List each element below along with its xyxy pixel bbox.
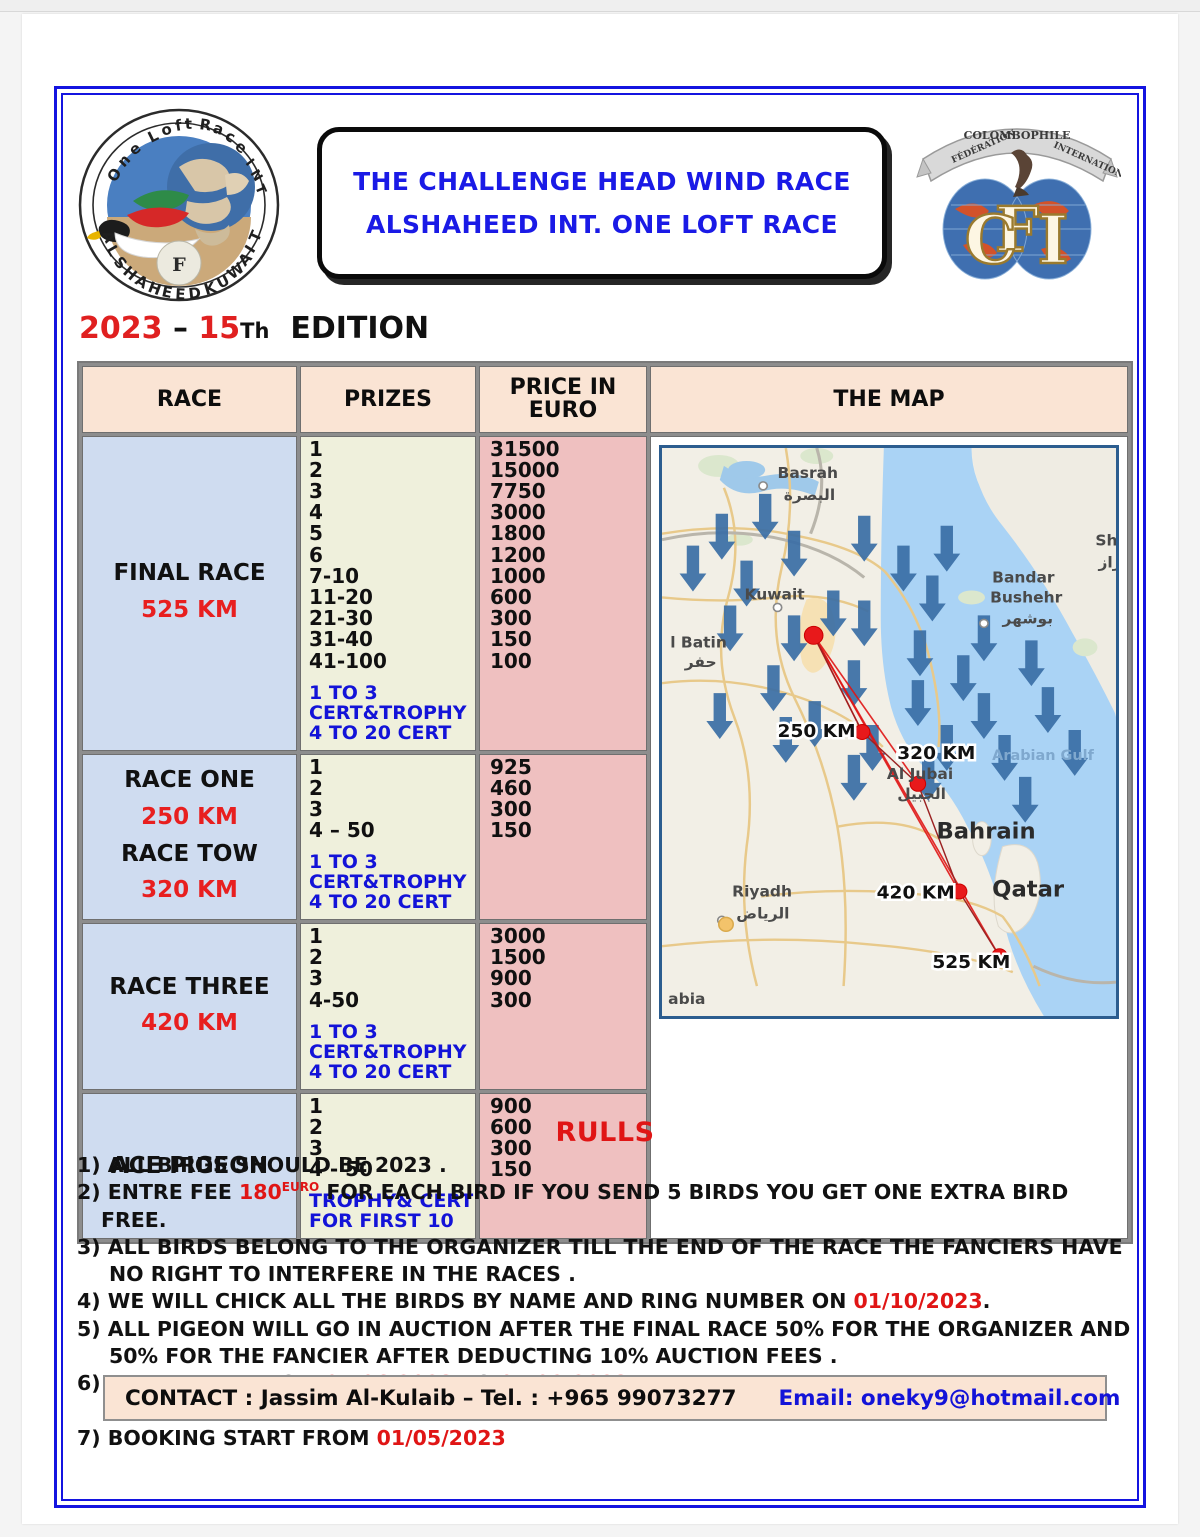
race-distance: 320 KM [87, 871, 292, 910]
prize-value: 1200 [490, 545, 646, 566]
svg-text:Riyadh: Riyadh [732, 882, 792, 900]
poster-blue-frame: F O n e L o f t R a c [54, 86, 1146, 1508]
svg-text:بوشهر: بوشهر [1001, 609, 1053, 627]
rule-highlight: 01/10/2023 [854, 1289, 983, 1313]
svg-text:الجبيل: الجبيل [897, 785, 946, 803]
column-header-prizes: PRIZES [300, 366, 476, 433]
prize-rank: 2 [309, 778, 475, 799]
svg-text:I: I [1038, 201, 1069, 279]
prize-value: 460 [490, 778, 646, 799]
viewer-top-strip [0, 0, 1200, 12]
rule-number: 5) [77, 1317, 108, 1341]
prize-value: 900 [490, 968, 646, 989]
prize-value: 7750 [490, 481, 646, 502]
rule-highlight: 01/05/2023 [377, 1426, 506, 1450]
column-header-map: THE MAP [650, 366, 1128, 433]
svg-text:250 KM: 250 KM [778, 721, 856, 742]
prize-rank: 2 [309, 947, 475, 968]
rule-item: 5) ALL PIGEON WILL GO IN AUCTION AFTER T… [77, 1316, 1133, 1371]
prize-note-line: 4 TO 20 CERT [309, 893, 475, 913]
prize-value: 15000 [490, 460, 646, 481]
svg-text:C: C [965, 201, 1018, 279]
rule-number: 7) [77, 1426, 108, 1450]
rule-item: 2) ENTRE FEE 180EURO FOR EACH BIRD IF YO… [77, 1179, 1133, 1234]
race-name: RACE ONE [87, 763, 292, 798]
prize-note-line: 1 TO 3 [309, 684, 475, 704]
svg-text:420 KM: 420 KM [877, 882, 955, 903]
rule-text: ALL BIRDS SHOULD BE 2023 . [108, 1153, 447, 1177]
svg-text:Bahrain: Bahrain [936, 819, 1035, 845]
prize-rank: 2 [309, 460, 475, 481]
svg-text:حفر: حفر [684, 653, 717, 671]
prize-value: 31500 [490, 439, 646, 460]
prize-value: 150 [490, 820, 646, 841]
race-cell: RACE THREE420 KM [82, 923, 297, 1090]
race-cell: FINAL RACE525 KM [82, 436, 297, 751]
rule-text: ALL BIRDS BELONG TO THE ORGANIZER TILL T… [108, 1235, 1123, 1259]
prize-value-list: 3150015000775030001800120010006003001501… [490, 439, 646, 672]
race-distance: 420 KM [87, 1004, 292, 1043]
club-logo-icon: F O n e L o f t R a c [75, 105, 283, 305]
prizes-cell: 1234567-1011-2021-3031-4041-1001 TO 3CER… [300, 436, 476, 751]
rule-text: WE WILL CHICK ALL THE BIRDS BY NAME AND … [108, 1289, 854, 1313]
race-cell: RACE ONE250 KMRACE TOW320 KM [82, 754, 297, 921]
prize-value: 300 [490, 990, 646, 1011]
svg-text:Bandar: Bandar [992, 568, 1055, 586]
prize-note: 1 TO 3CERT&TROPHY4 TO 20 CERT [309, 1023, 475, 1083]
column-header-price: PRICE IN EURO [479, 366, 647, 433]
poster-title-line-2: ALSHAHEED INT. ONE LOFT RACE [366, 210, 838, 239]
prize-value-list: 30001500900300 [490, 926, 646, 1011]
price-cell: 925460300150 [479, 754, 647, 921]
edition-line: 2023 – 15Th EDITION [79, 311, 429, 346]
price-cell: 30001500900300 [479, 923, 647, 1090]
prize-rank: 4 – 50 [309, 820, 475, 841]
poster-header: F O n e L o f t R a c [69, 99, 1131, 319]
prize-rank: 31-40 [309, 629, 475, 650]
prize-value: 900 [490, 1096, 646, 1117]
rule-number: 3) [77, 1235, 108, 1259]
svg-text:البصرة: البصرة [784, 486, 835, 504]
prize-rank-list: 1234 – 50 [309, 757, 475, 842]
svg-text:Basrah: Basrah [778, 464, 839, 482]
svg-text:الرياض: الرياض [736, 904, 789, 922]
svg-text:F: F [172, 254, 186, 276]
prize-rank: 41-100 [309, 651, 475, 672]
table-header-row: RACE PRIZES PRICE IN EURO THE MAP [82, 366, 1128, 433]
prize-rank-list: 1234-50 [309, 926, 475, 1011]
prize-note-line: 4 TO 20 CERT [309, 724, 475, 744]
prize-value: 1500 [490, 947, 646, 968]
rule-number: 2) [77, 1180, 108, 1204]
edition-number: 15 [198, 311, 240, 346]
prize-value-list: 925460300150 [490, 757, 646, 842]
poster-page: F O n e L o f t R a c [22, 14, 1178, 1524]
race-prize-table: RACE PRIZES PRICE IN EURO THE MAP FINAL … [77, 361, 1133, 1244]
prize-note-line: CERT&TROPHY [309, 873, 475, 893]
rule-text: ALL PIGEON WILL GO IN AUCTION AFTER THE … [108, 1317, 1131, 1341]
svg-text:Shira: Shira [1095, 532, 1116, 550]
contact-text: CONTACT : Jassim Al-Kulaib – Tel. : +965… [125, 1386, 737, 1411]
race-name: RACE THREE [87, 970, 292, 1005]
svg-text:abia: abia [668, 990, 705, 1008]
rule-highlight: 180 [239, 1180, 282, 1204]
svg-text:l Batin: l Batin [670, 633, 727, 651]
poster-content: F O n e L o f t R a c [69, 99, 1131, 1497]
prize-rank: 3 [309, 799, 475, 820]
prizes-cell: 1234-501 TO 3CERT&TROPHY4 TO 20 CERT [300, 923, 476, 1090]
race-route-map: BasrahالبصرةShiraشيرازBandarBushehrبوشهر… [659, 445, 1119, 1019]
rule-currency: EURO [282, 1180, 319, 1194]
svg-text:Kuwait: Kuwait [745, 585, 805, 603]
prize-value: 300 [490, 799, 646, 820]
prize-value: 925 [490, 757, 646, 778]
race-distance: 525 KM [87, 591, 292, 630]
rule-item: 3) ALL BIRDS BELONG TO THE ORGANIZER TIL… [77, 1234, 1133, 1289]
rule-continuation: NO RIGHT TO INTERFERE IN THE RACES . [101, 1261, 1133, 1288]
rule-text: . [983, 1289, 991, 1313]
prize-note-line: 4 TO 20 CERT [309, 1063, 475, 1083]
rule-item: 4) WE WILL CHICK ALL THE BIRDS BY NAME A… [77, 1288, 1133, 1315]
prize-rank: 4-50 [309, 990, 475, 1011]
prize-value: 300 [490, 608, 646, 629]
svg-text:Al Jubai: Al Jubai [887, 765, 953, 783]
svg-text:Bushehr: Bushehr [990, 588, 1063, 606]
svg-text:COLOMBOPHILE: COLOMBOPHILE [964, 129, 1071, 142]
edition-ordinal: Th [240, 319, 269, 343]
screenshot-canvas: F O n e L o f t R a c [0, 0, 1200, 1537]
contact-email[interactable]: Email: oneky9@hotmail.com [779, 1386, 1121, 1411]
prize-rank: 11-20 [309, 587, 475, 608]
prize-rank: 7-10 [309, 566, 475, 587]
rule-text: BOOKING START FROM [108, 1426, 377, 1450]
prize-value: 1800 [490, 523, 646, 544]
edition-dash: – [173, 311, 188, 346]
prize-value: 3000 [490, 502, 646, 523]
svg-text:Qatar: Qatar [992, 876, 1064, 902]
prize-note-line: 1 TO 3 [309, 853, 475, 873]
svg-text:525 KM: 525 KM [932, 952, 1010, 973]
prize-note-line: 1 TO 3 [309, 1023, 475, 1043]
prize-rank: 4 [309, 502, 475, 523]
prize-note-line: CERT&TROPHY [309, 704, 475, 724]
prize-note: 1 TO 3CERT&TROPHY4 TO 20 CERT [309, 853, 475, 913]
rule-item: 7) BOOKING START FROM 01/05/2023 [77, 1425, 1133, 1452]
contact-bar: CONTACT : Jassim Al-Kulaib – Tel. : +965… [103, 1375, 1107, 1421]
prize-rank: 6 [309, 545, 475, 566]
prize-rank: 3 [309, 968, 475, 989]
prize-value: 600 [490, 587, 646, 608]
svg-text:t: t [185, 115, 193, 133]
column-header-race: RACE [82, 366, 297, 433]
rule-number: 4) [77, 1289, 108, 1313]
prize-rank: 1 [309, 757, 475, 778]
rules-title: RULLS [77, 1117, 1133, 1148]
svg-text:E: E [175, 285, 186, 304]
prizes-cell: 1234 – 501 TO 3CERT&TROPHY4 TO 20 CERT [300, 754, 476, 921]
race-distance: 250 KM [87, 798, 292, 837]
prize-value: 100 [490, 651, 646, 672]
fci-logo-icon: COLOMBOPHILE FÉDÉRATION INTERNATIONALE [913, 117, 1121, 287]
prize-rank: 1 [309, 439, 475, 460]
rule-item: 1) ALL BIRDS SHOULD BE 2023 . [77, 1152, 1133, 1179]
prize-value: 150 [490, 629, 646, 650]
price-cell: 3150015000775030001800120010006003001501… [479, 436, 647, 751]
prize-note: 1 TO 3CERT&TROPHY4 TO 20 CERT [309, 684, 475, 744]
prize-rank: 21-30 [309, 608, 475, 629]
edition-word: EDITION [290, 311, 429, 346]
race-name: FINAL RACE [87, 556, 292, 591]
svg-text:D: D [188, 284, 202, 303]
race-name: RACE TOW [87, 837, 292, 872]
prize-note-line: CERT&TROPHY [309, 1043, 475, 1063]
prize-value: 1000 [490, 566, 646, 587]
svg-text:Arabian Gulf: Arabian Gulf [992, 748, 1095, 764]
rule-number: 1) [77, 1153, 108, 1177]
prize-value: 3000 [490, 926, 646, 947]
prize-rank: 1 [309, 1096, 475, 1117]
poster-title-box: THE CHALLENGE HEAD WIND RACE ALSHAHEED I… [317, 127, 887, 279]
svg-text:شيراز: شيراز [1097, 553, 1116, 571]
table-row: FINAL RACE525 KM1234567-1011-2021-3031-4… [82, 436, 1128, 751]
rule-text: ENTRE FEE [108, 1180, 239, 1204]
rule-continuation: 50% FOR THE FANCIER AFTER DEDUCTING 10% … [101, 1343, 1133, 1370]
svg-text:320 KM: 320 KM [897, 743, 975, 764]
prize-rank-list: 1234567-1011-2021-3031-4041-100 [309, 439, 475, 672]
poster-title-line-1: THE CHALLENGE HEAD WIND RACE [353, 167, 851, 196]
prize-rank: 5 [309, 523, 475, 544]
prize-rank: 1 [309, 926, 475, 947]
edition-year: 2023 [79, 311, 163, 346]
prize-rank: 3 [309, 481, 475, 502]
